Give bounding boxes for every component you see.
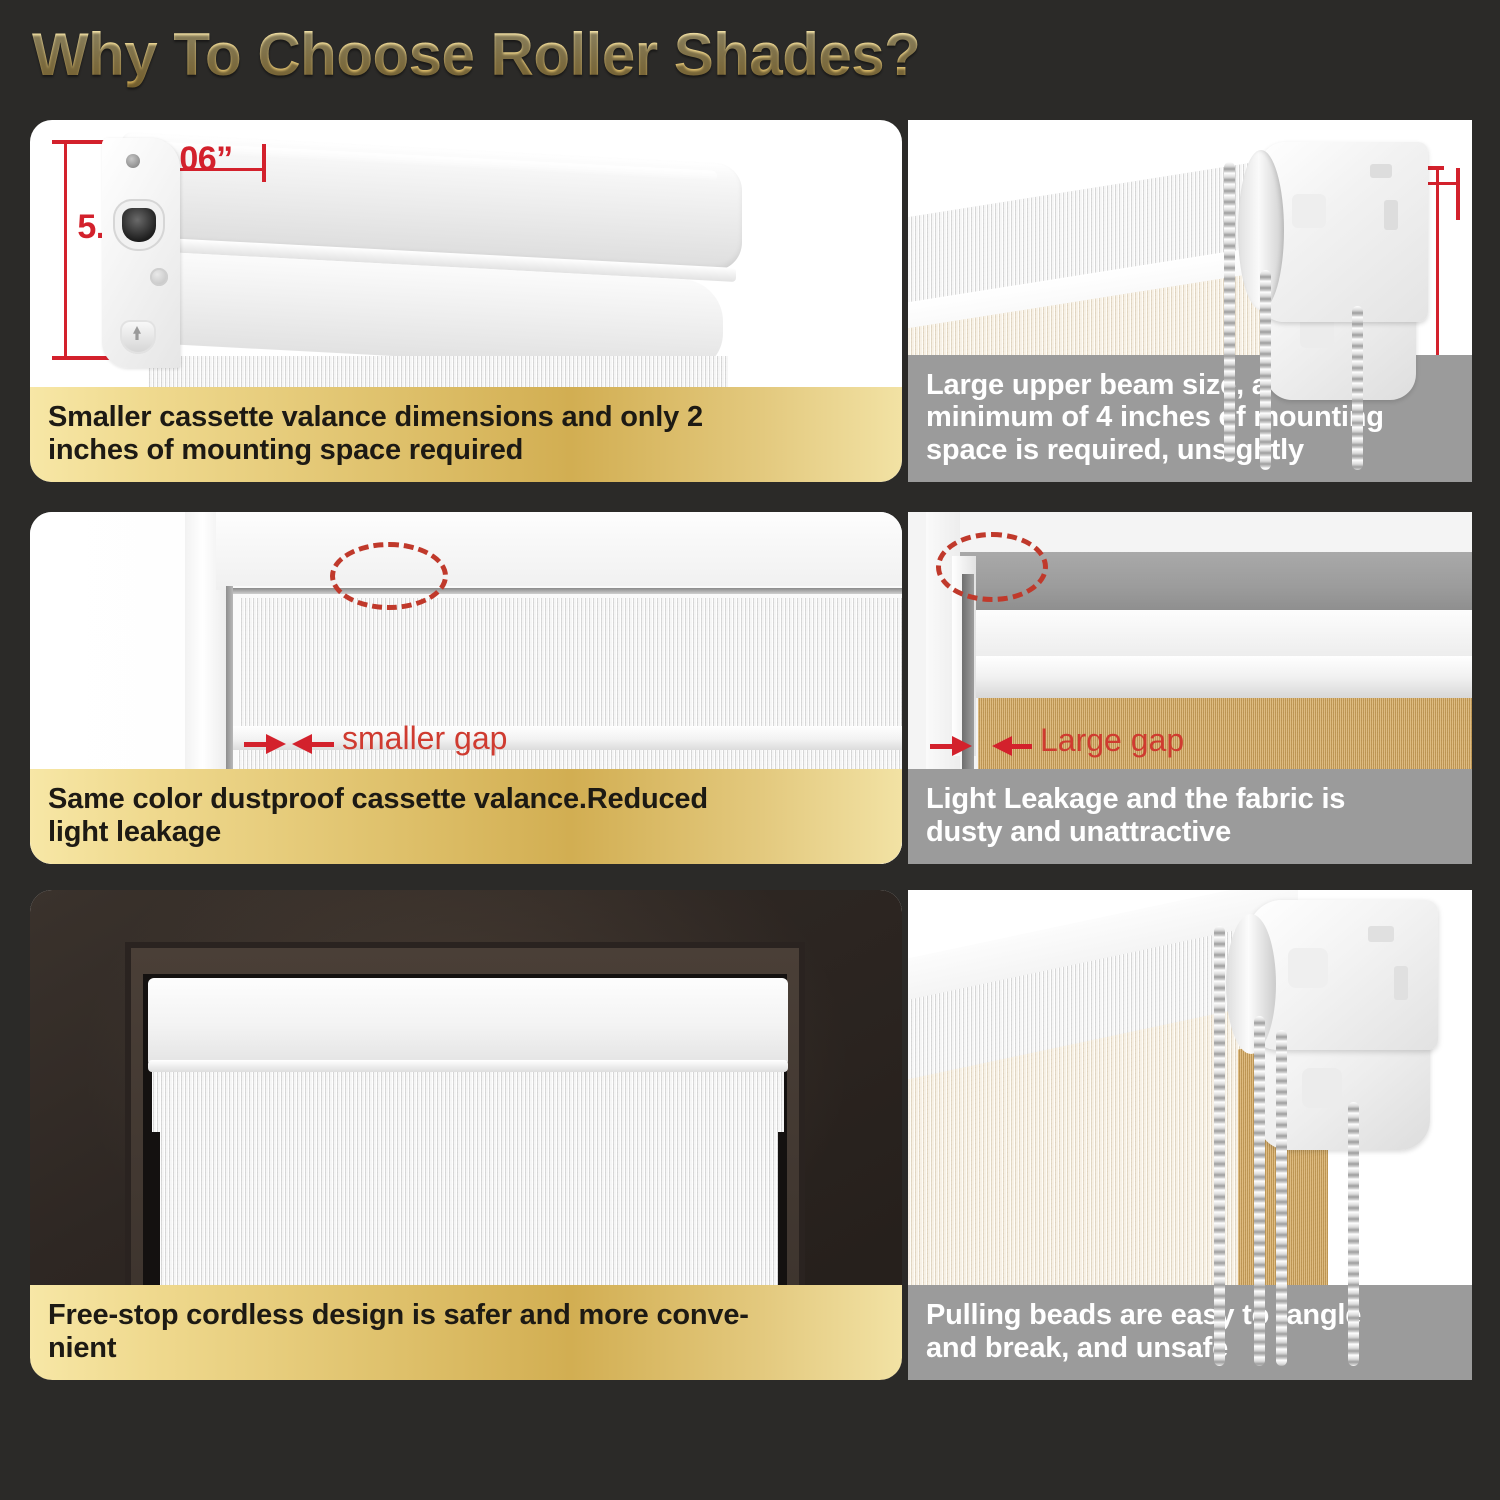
gap-arrow-left-stem [930,744,952,749]
caption-top-left: Smaller cassette valance dimensions and … [30,387,902,482]
bead-chain [1352,306,1363,470]
gap-arrow-left-head [266,734,286,754]
window-frame-top [216,512,902,590]
gap-arrow-right-head [992,736,1012,756]
width-dimension-tick-right [262,144,266,182]
gap-callout-label: smaller gap [342,720,507,757]
gap-arrow-left-stem [244,742,266,747]
infographic-root: Why To Choose Roller Shades? 2.06” [0,0,1500,1500]
bracket-slot [1384,200,1398,230]
bracket-emboss [1288,948,1328,988]
gap-callout-label: Large gap [1040,722,1184,759]
white-fabric-band [970,656,1472,698]
caption-line: Free-stop cordless design is safer and m… [48,1299,884,1331]
gap-arrow-right-stem [1012,744,1032,749]
bead-chain [1214,926,1225,1366]
panel-bottom-right: Pulling beads are easy to tangle and bre… [908,890,1472,1380]
panel-middle-left: smaller gap Same color dustproof cassett… [30,512,902,864]
height-dimension-line [64,142,67,360]
bracket-slot [1394,966,1408,1000]
caption-line: space is required, unsightly [926,434,1454,466]
bracket-slot [1368,926,1394,942]
headrail-lip [148,1060,788,1072]
bead-chain [1260,270,1271,470]
valance-face [240,598,902,726]
caption-line: minimum of 4 inches of mounting [926,401,1454,433]
endcap-bracket-hole [122,208,156,242]
caption-line: Light Leakage and the fabric is [926,783,1454,815]
shade-upper-band [152,1072,784,1132]
caption-line: inches of mounting space required [48,434,884,466]
beam-width-tick-right [1456,168,1460,220]
gap-arrow-right-head [292,734,312,754]
caption-line: and break, and unsafe [926,1332,1454,1364]
panel-bottom-left: Free-stop cordless design is safer and m… [30,890,902,1380]
endcap-knob [120,320,156,354]
gap-highlight-ellipse [330,542,448,610]
bead-chain [1254,1016,1265,1366]
roller-tube [960,610,1472,656]
bead-chain [1348,1102,1359,1366]
bracket-emboss [1292,194,1326,228]
bracket-emboss [1302,1068,1342,1108]
caption-line: dusty and unattractive [926,816,1454,848]
bead-chain [1276,1030,1287,1366]
caption-line: Same color dustproof cassette valance.Re… [48,783,884,815]
caption-bottom-right: Pulling beads are easy to tangle and bre… [908,1285,1472,1380]
panel-top-right: 4.00” 4.00” Large upper beam size, a min… [908,120,1472,482]
caption-line: nient [48,1332,884,1364]
caption-bottom-left: Free-stop cordless design is safer and m… [30,1285,902,1380]
gap-highlight-ellipse [936,532,1048,602]
endcap-top-screw [126,154,140,168]
cassette-headrail [148,978,788,1064]
page-title: Why To Choose Roller Shades? [32,20,920,89]
valance-end-cap [102,138,180,368]
gap-arrow-left-head [952,736,972,756]
panel-top-left: 2.06” 5.49” Smaller cassette valance dim… [30,120,902,482]
caption-line: light leakage [48,816,884,848]
roller-tube-end [1226,914,1276,1054]
mounting-bracket-upper [1248,900,1438,1050]
caption-middle-left: Same color dustproof cassette valance.Re… [30,769,902,864]
valance-head-line [226,588,902,594]
panel-middle-right: Large gap Light Leakage and the fabric i… [908,512,1472,864]
caption-middle-right: Light Leakage and the fabric is dusty an… [908,769,1472,864]
bead-chain [1224,162,1235,462]
gap-arrow-right-stem [312,742,334,747]
bracket-slot [1370,164,1392,178]
caption-line: Pulling beads are easy to tangle [926,1299,1454,1331]
endcap-screw [150,268,168,286]
caption-line: Smaller cassette valance dimensions and … [48,401,884,433]
